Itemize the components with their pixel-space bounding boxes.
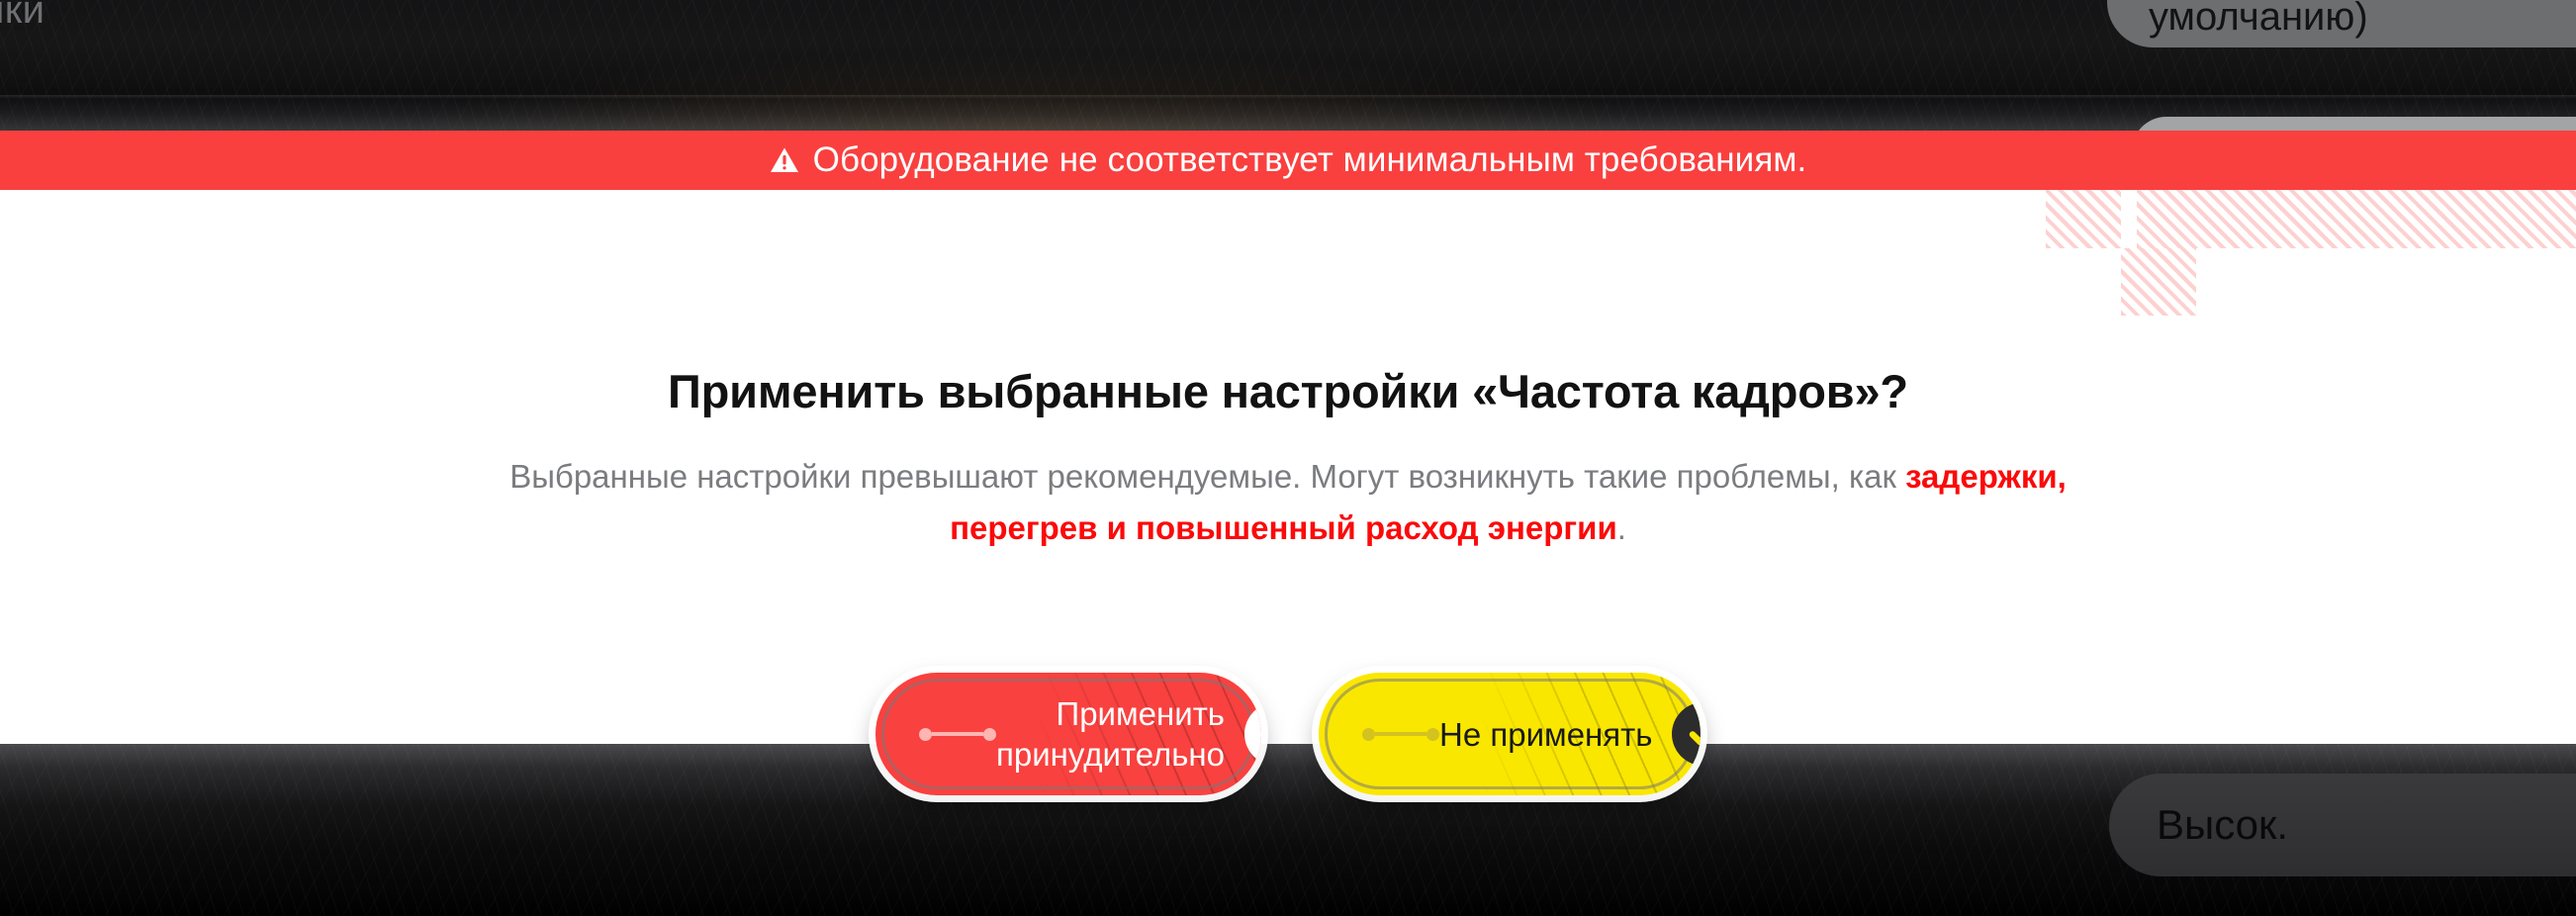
slider-handle-icon <box>919 728 996 741</box>
dialog-title: Применить выбранные настройки «Частота к… <box>0 364 2576 418</box>
handle-knob-right <box>1426 728 1439 741</box>
check-glyph <box>1684 714 1701 754</box>
background-pill-default-value-label: умолчанию) <box>2149 0 2368 40</box>
header-sheen-divider <box>0 95 2576 99</box>
warning-triangle-icon <box>770 146 799 174</box>
screen-root: йки умолчанию) Высок. Оборудование не со… <box>0 0 2576 916</box>
check-circle-icon <box>1672 702 1701 766</box>
hardware-warning-banner-text: Оборудование не соответствует минимальны… <box>813 140 1807 180</box>
handle-knob-right <box>983 728 996 741</box>
dialog-description-line1: Выбранные настройки превышают рекомендуе… <box>509 458 1905 495</box>
handle-bar <box>932 732 983 736</box>
background-pill-default-value[interactable]: умолчанию) <box>2107 0 2576 47</box>
handle-bar <box>1375 732 1426 736</box>
decorative-hatch-strip <box>2137 181 2576 248</box>
decorative-hatch-block <box>2121 248 2196 316</box>
dialog-description-line2-tail: . <box>1617 509 1626 546</box>
dialog-description-highlight-2: перегрев и повышенный расход энергии <box>950 509 1617 546</box>
do-not-apply-button-label: Не применять <box>1439 714 1672 755</box>
hardware-warning-banner: Оборудование не соответствует минимальны… <box>0 131 2576 190</box>
background-pill-quality-value-label: Высок. <box>2157 801 2288 849</box>
dialog-actions: Применить принудительно Не применять <box>0 673 2576 795</box>
apply-anyway-button-label: Применить принудительно <box>996 693 1244 775</box>
decorative-hatch-block <box>2046 181 2121 248</box>
slider-handle-icon <box>1362 728 1439 741</box>
dialog-description-highlight-1: задержки, <box>1905 458 2067 495</box>
dialog-description: Выбранные настройки превышают рекомендуе… <box>0 451 2576 554</box>
do-not-apply-button[interactable]: Не применять <box>1319 673 1701 795</box>
handle-knob-left <box>919 728 932 741</box>
apply-anyway-button[interactable]: Применить принудительно <box>875 673 1261 795</box>
background-breadcrumb-label: йки <box>0 0 45 33</box>
handle-knob-left <box>1362 728 1375 741</box>
exclamation-circle-icon <box>1244 702 1261 766</box>
